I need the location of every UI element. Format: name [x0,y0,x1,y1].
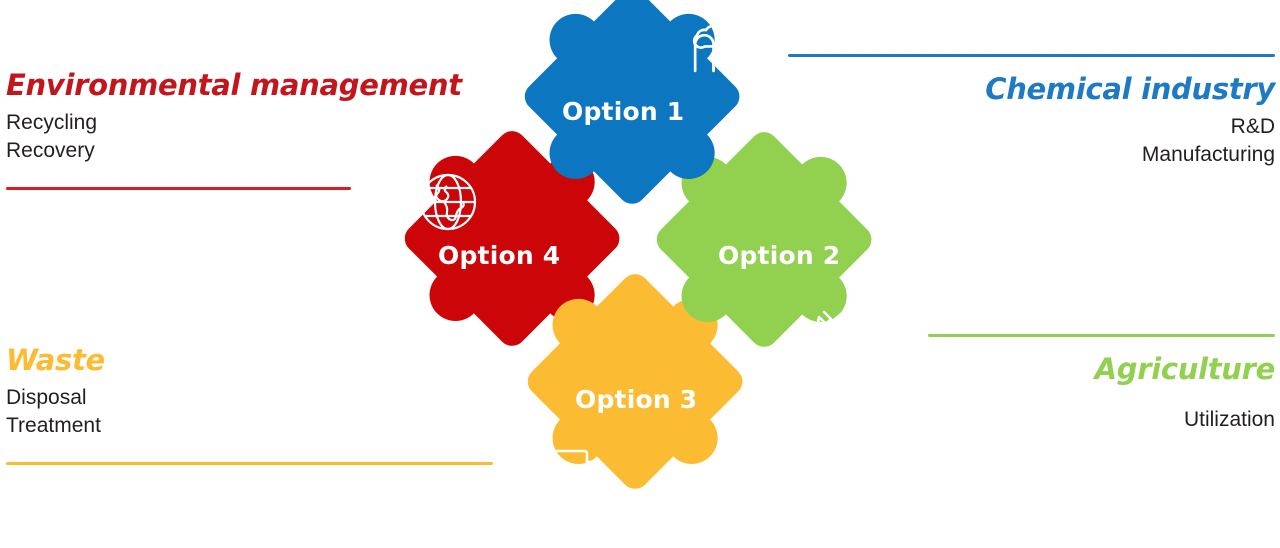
puzzle-label-option-2: Option 2 [718,241,840,270]
diagram-canvas: Environmental management Recycling Recov… [0,0,1280,548]
globe-icon [421,175,475,229]
puzzle-label-option-1: Option 1 [562,97,684,126]
environmental-rule [6,187,351,190]
puzzle-icons-layer [370,0,910,548]
agriculture-heading: Agriculture [928,354,1275,384]
agriculture-rule [928,334,1275,337]
puzzle-label-option-4: Option 4 [438,241,560,270]
puzzle-cluster: Option 1 Option 2 Option 3 Option 4 [370,0,910,548]
wrench-hammer-icon [806,312,860,367]
label-block-agriculture: Agriculture Utilization [928,334,1275,434]
puzzle-label-option-3: Option 3 [575,385,697,414]
delivery-truck-icon [527,451,605,494]
agriculture-item-1: Utilization [928,406,1275,434]
factory-icon [694,26,740,71]
